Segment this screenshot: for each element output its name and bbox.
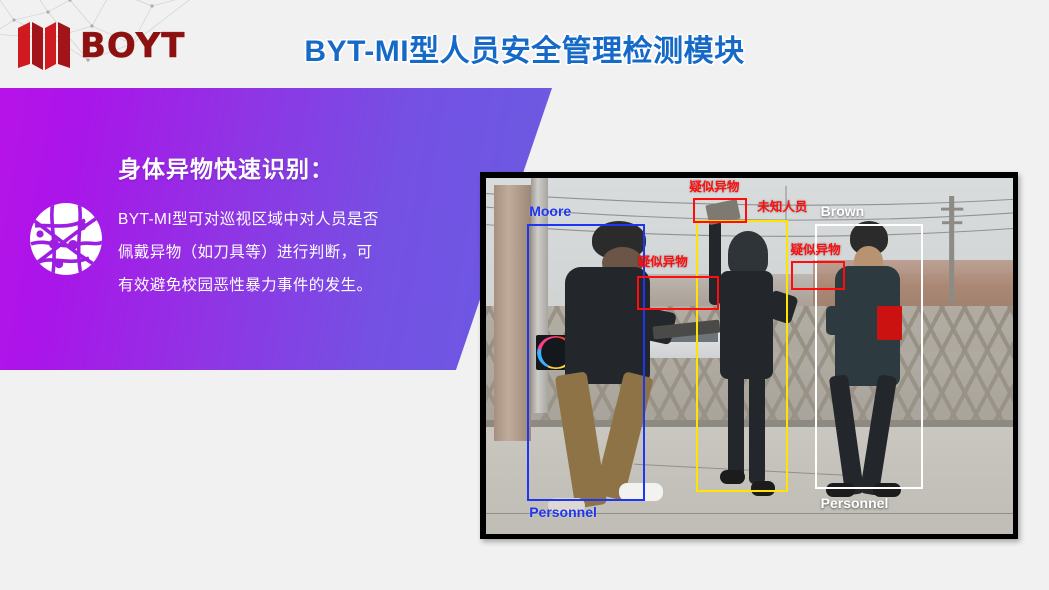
detection-box-person-unknown[interactable]	[696, 220, 789, 492]
detection-box-object-3[interactable]	[791, 261, 846, 290]
feature-description-line-3: 有效避免校园恶性暴力事件的发生。	[118, 269, 438, 302]
detection-box-person-moore[interactable]	[527, 224, 645, 502]
detection-label-object-3: 疑似异物	[791, 244, 841, 257]
detection-box-object-1[interactable]	[693, 198, 748, 224]
detection-label-brown-top: Brown	[821, 204, 865, 218]
detection-box-object-2[interactable]	[637, 276, 719, 311]
detection-label-brown-bottom: Personnel	[821, 496, 889, 510]
detection-label-moore-bottom: Personnel	[529, 505, 597, 519]
feature-heading: 身体异物快速识别：	[118, 150, 334, 184]
detection-label-unknown-person: 未知人员	[757, 201, 807, 214]
detection-photo-frame: Moore Personnel 未知人员 Brown Personnel 疑似异…	[480, 172, 1018, 539]
detection-label-moore-top: Moore	[529, 204, 571, 218]
scene-pillar	[494, 185, 531, 441]
feature-description-line-2: 佩戴异物（如刀具等）进行判断，可	[118, 236, 438, 269]
detection-label-object-2: 疑似异物	[638, 256, 688, 269]
detection-photo: Moore Personnel 未知人员 Brown Personnel 疑似异…	[486, 178, 1013, 534]
network-globe-icon	[27, 200, 105, 278]
feature-description-line-1: BYT-MI型可对巡视区域中对人员是否	[118, 203, 438, 236]
detection-label-object-1: 疑似异物	[689, 181, 739, 194]
page-title-text: BYT-MI型人员安全管理检测模块	[304, 35, 744, 68]
scene-utility-pole	[939, 196, 965, 303]
page-header: BOYT BYT-MI型人员安全管理检测模块	[0, 0, 1049, 88]
page-title: BYT-MI型人员安全管理检测模块	[0, 26, 1049, 70]
feature-description: BYT-MI型可对巡视区域中对人员是否 佩戴异物（如刀具等）进行判断，可 有效避…	[118, 203, 438, 302]
